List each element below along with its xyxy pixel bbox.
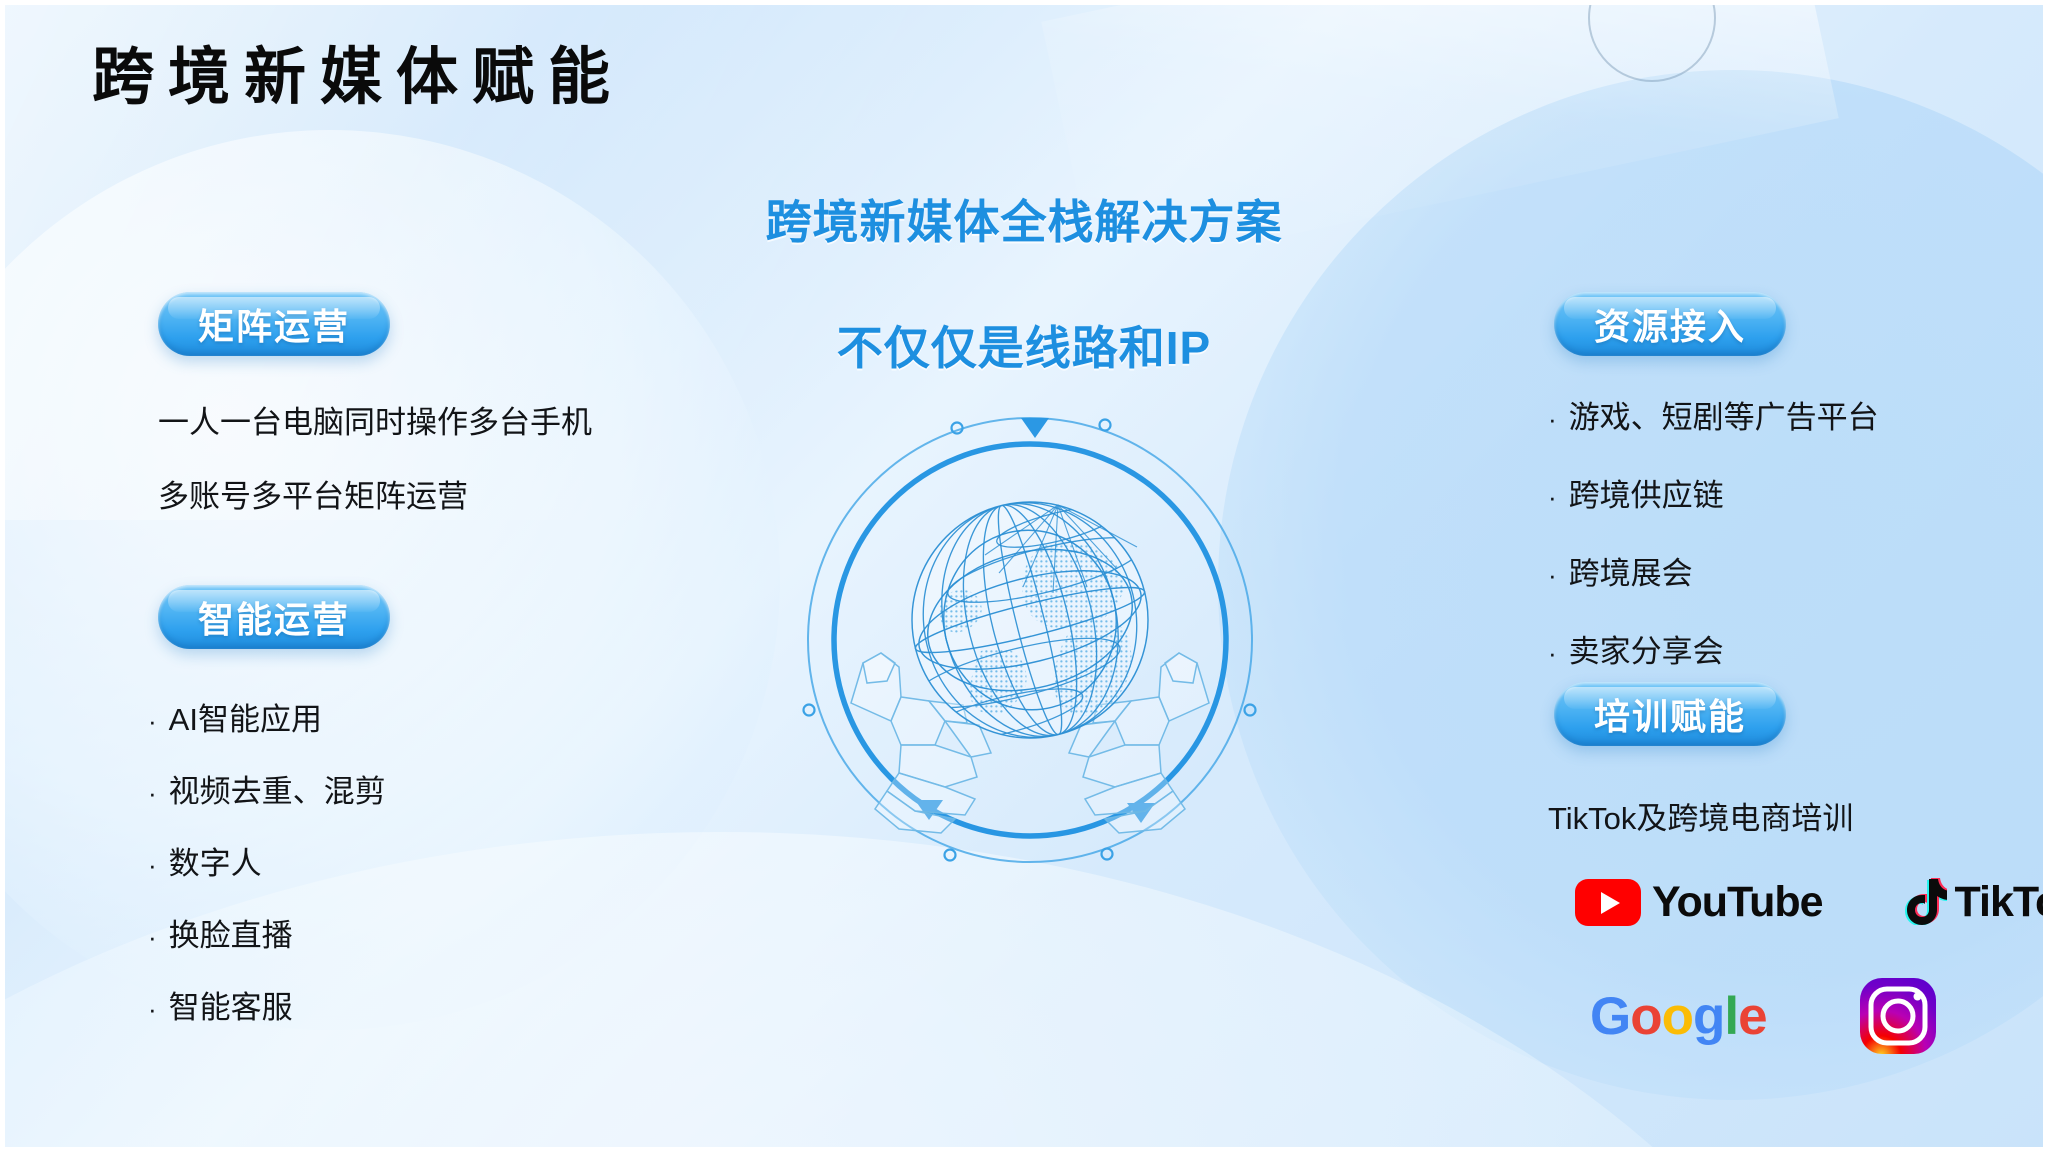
list-item-label: 游戏、短剧等广告平台 [1569,392,1879,437]
list-item-label: 跨境展会 [1569,548,1693,593]
brand-logo-row-2: Google [1590,975,1939,1057]
pill-matrix-operations[interactable]: 矩阵运营 [158,292,390,356]
youtube-logo: YouTube [1575,878,1823,927]
center-heading-primary: 跨境新媒体全栈解决方案 [766,186,1283,252]
pill-label: 矩阵运营 [198,298,350,350]
list-item: · 换脸直播 [148,910,386,955]
left-section2-bullet-list: · AI智能应用 · 视频去重、混剪 · 数字人 · 换脸直播 · 智能客服 [148,694,386,1027]
list-item: · 跨境供应链 [1548,470,1879,515]
pill-label: 资源接入 [1594,298,1746,350]
pill-training-empowerment[interactable]: 培训赋能 [1554,682,1786,746]
tiktok-wordmark: TikTok [1955,878,2048,927]
bullet-marker-icon: · [1548,638,1557,669]
tiktok-logo: TikTok [1901,875,2048,930]
left-section1-line-1: 一人一台电脑同时操作多台手机 [158,404,592,441]
list-item-label: 换脸直播 [169,910,293,955]
list-item: · 智能客服 [148,982,386,1027]
instagram-camera-icon [1857,975,1939,1057]
right-section1-bullet-list: · 游戏、短剧等广告平台 · 跨境供应链 · 跨境展会 · 卖家分享会 [1548,392,1879,671]
list-item: · 视频去重、混剪 [148,766,386,811]
list-item-label: 智能客服 [169,982,293,1027]
bullet-marker-icon: · [148,706,157,737]
pill-smart-operations[interactable]: 智能运营 [158,585,390,649]
tiktok-note-icon [1901,875,1947,930]
left-section1-line-2: 多账号多平台矩阵运营 [158,478,468,515]
pill-resource-access[interactable]: 资源接入 [1554,292,1786,356]
youtube-wordmark: YouTube [1652,878,1823,927]
list-item: · 数字人 [148,838,386,883]
list-item-label: 数字人 [169,838,262,883]
bullet-marker-icon: · [1548,482,1557,513]
pill-label: 培训赋能 [1594,688,1746,740]
slide-canvas: 跨境新媒体赋能 跨境新媒体全栈解决方案 不仅仅是线路和IP 矩阵运营 一人一台电… [0,0,2048,1152]
instagram-logo [1857,975,1939,1057]
google-letter-l: l [1724,986,1738,1047]
google-letter-e: e [1738,986,1766,1047]
bullet-marker-icon: · [148,994,157,1025]
google-letter-g2: g [1693,986,1724,1047]
brand-logo-row-1: YouTube TikTok [1575,875,2048,930]
bullet-marker-icon: · [1548,560,1557,591]
right-section2-line-1: TikTok及跨境电商培训 [1548,800,1853,837]
bullet-marker-icon: · [148,922,157,953]
list-item: · 跨境展会 [1548,548,1879,593]
list-item: · 游戏、短剧等广告平台 [1548,392,1879,437]
bullet-marker-icon: · [1548,404,1557,435]
list-item: · AI智能应用 [148,694,386,739]
youtube-play-icon [1575,879,1641,926]
list-item: · 卖家分享会 [1548,626,1879,671]
list-item-label: 跨境供应链 [1569,470,1724,515]
center-heading-secondary: 不仅仅是线路和IP [837,312,1211,378]
google-letter-o2: o [1662,986,1693,1047]
page-title: 跨境新媒体赋能 [92,44,624,112]
bullet-marker-icon: · [148,778,157,809]
list-item-label: 视频去重、混剪 [169,766,386,811]
bullet-marker-icon: · [148,850,157,881]
globe-in-hands-illustration [795,405,1265,875]
list-item-label: AI智能应用 [169,694,322,739]
google-logo: Google [1590,986,1767,1047]
pill-label: 智能运营 [198,591,350,643]
google-letter-o1: o [1630,986,1661,1047]
list-item-label: 卖家分享会 [1569,626,1724,671]
google-letter-g1: G [1590,986,1630,1047]
decorative-ring-icon [1588,0,1716,82]
